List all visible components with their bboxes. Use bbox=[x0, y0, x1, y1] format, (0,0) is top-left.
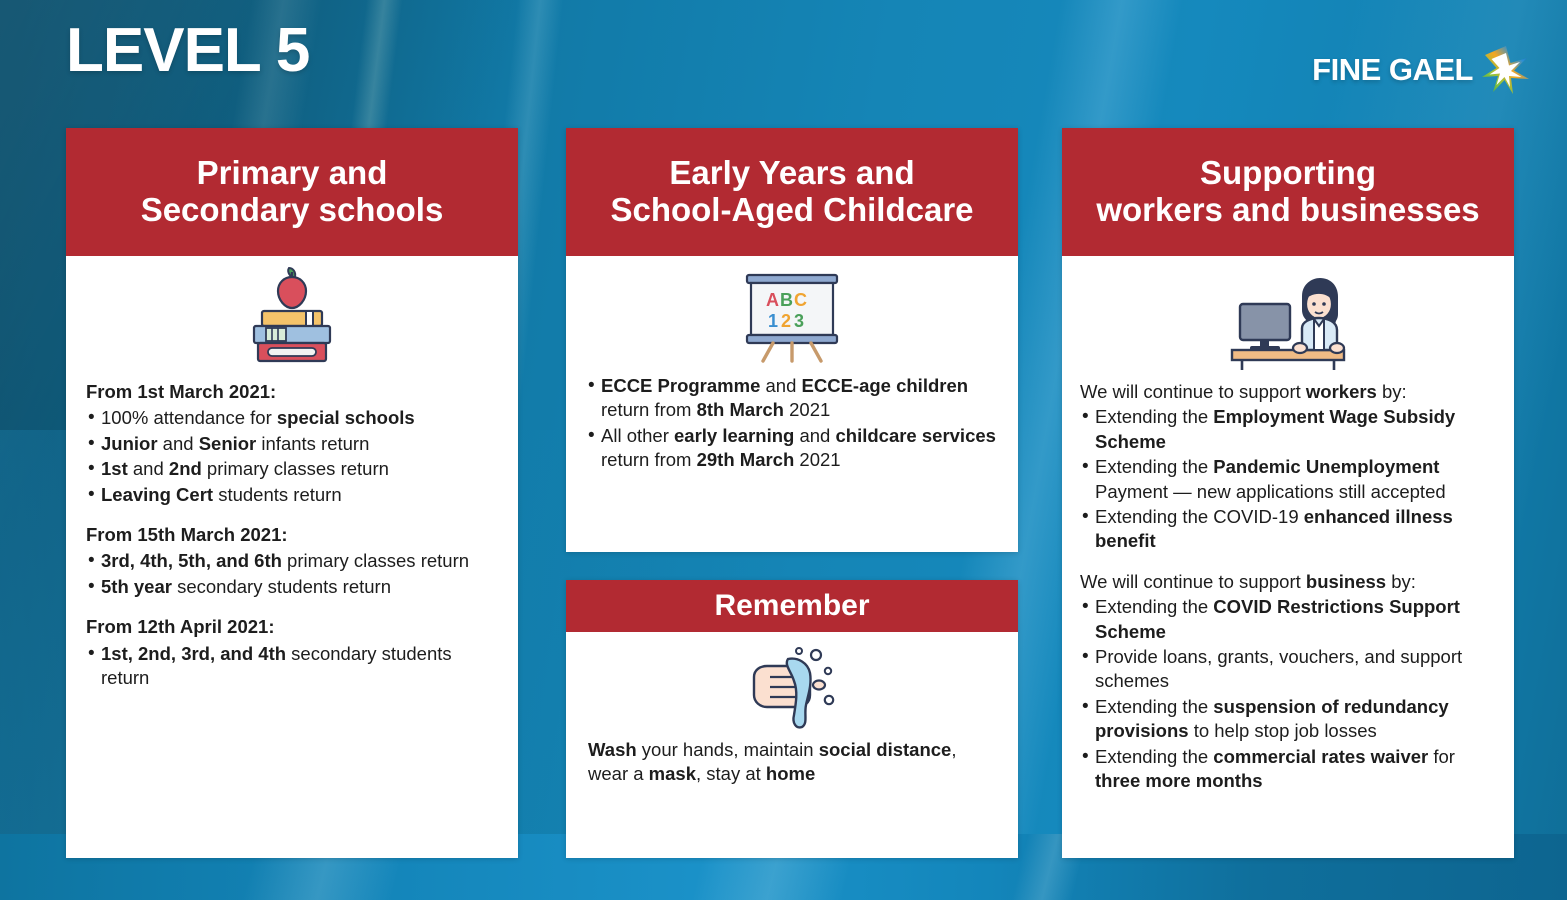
content-group: From 15th March 2021:3rd, 4th, 5th, and … bbox=[86, 523, 502, 599]
card-body-remember: Wash your hands, maintain social distanc… bbox=[566, 632, 1018, 786]
bullet-list: 3rd, 4th, 5th, and 6th primary classes r… bbox=[86, 549, 502, 599]
apple-on-books-icon bbox=[66, 256, 518, 374]
bullet-list: ECCE Programme and ECCE-age children ret… bbox=[586, 374, 1002, 473]
svg-text:1: 1 bbox=[768, 311, 778, 331]
list-item: ECCE Programme and ECCE-age children ret… bbox=[586, 374, 1002, 423]
washing-hands-icon bbox=[566, 632, 1018, 738]
early-title-line1: Early Years and bbox=[610, 155, 973, 192]
group-heading: From 1st March 2021: bbox=[86, 380, 502, 404]
list-item: Leaving Cert students return bbox=[86, 483, 502, 507]
page-title: LEVEL 5 bbox=[66, 20, 309, 82]
list-item: Extending the commercial rates waiver fo… bbox=[1080, 745, 1500, 794]
card-remember: Remember Wash your hands, maintain socia… bbox=[566, 580, 1018, 858]
list-item: 100% attendance for special schools bbox=[86, 406, 502, 430]
early-years-content: ECCE Programme and ECCE-age children ret… bbox=[566, 370, 1018, 473]
support-content: We will continue to support workers by:E… bbox=[1062, 378, 1514, 794]
brand-wordmark: FINE GAEL bbox=[1312, 52, 1473, 88]
list-item: Extending the suspension of redundancy p… bbox=[1080, 695, 1500, 744]
svg-text:2: 2 bbox=[781, 311, 791, 331]
list-item: 1st, 2nd, 3rd, and 4th secondary student… bbox=[86, 642, 502, 691]
group-heading: From 12th April 2021: bbox=[86, 615, 502, 639]
support-title-line2: workers and businesses bbox=[1096, 192, 1479, 229]
list-item: Provide loans, grants, vouchers, and sup… bbox=[1080, 645, 1500, 694]
infographic-canvas: LEVEL 5 FINE GAEL bbox=[0, 0, 1567, 900]
card-primary-secondary-schools: Primary and Secondary schools bbox=[66, 128, 518, 858]
list-item: 3rd, 4th, 5th, and 6th primary classes r… bbox=[86, 549, 502, 573]
svg-text:3: 3 bbox=[794, 311, 804, 331]
list-item: All other early learning and childcare s… bbox=[586, 424, 1002, 473]
schools-title-line1: Primary and bbox=[141, 155, 444, 192]
content-group: ECCE Programme and ECCE-age children ret… bbox=[586, 374, 1002, 473]
svg-text:C: C bbox=[794, 290, 807, 310]
card-body-support: We will continue to support workers by:E… bbox=[1062, 256, 1514, 794]
svg-text:A: A bbox=[766, 290, 779, 310]
schools-title-line2: Secondary schools bbox=[141, 192, 444, 229]
person-at-computer-desk-icon bbox=[1062, 256, 1514, 378]
card-body-schools: From 1st March 2021:100% attendance for … bbox=[66, 256, 518, 690]
svg-text:B: B bbox=[780, 290, 793, 310]
list-item: 5th year secondary students return bbox=[86, 575, 502, 599]
abc-123-whiteboard-icon: A B C 1 2 3 bbox=[566, 256, 1018, 370]
list-item: Extending the COVID Restrictions Support… bbox=[1080, 595, 1500, 644]
group-heading: From 15th March 2021: bbox=[86, 523, 502, 547]
support-title-line1: Supporting bbox=[1096, 155, 1479, 192]
card-body-early-years: A B C 1 2 3 ECCE Programme and ECCE-age … bbox=[566, 256, 1018, 473]
bullet-list: 100% attendance for special schoolsJunio… bbox=[86, 406, 502, 507]
list-item: Junior and Senior infants return bbox=[86, 432, 502, 456]
bullet-list: Extending the COVID Restrictions Support… bbox=[1080, 595, 1500, 793]
bullet-list: Extending the Employment Wage Subsidy Sc… bbox=[1080, 405, 1500, 553]
group-heading: We will continue to support workers by: bbox=[1080, 380, 1500, 404]
content-group: From 1st March 2021:100% attendance for … bbox=[86, 380, 502, 507]
list-item: Extending the COVID-19 enhanced illness … bbox=[1080, 505, 1500, 554]
content-group: We will continue to support business by:… bbox=[1080, 570, 1500, 794]
fine-gael-star-icon bbox=[1479, 44, 1531, 96]
schools-content: From 1st March 2021:100% attendance for … bbox=[66, 374, 518, 690]
content-group: From 12th April 2021:1st, 2nd, 3rd, and … bbox=[86, 615, 502, 690]
list-item: 1st and 2nd primary classes return bbox=[86, 457, 502, 481]
early-title-line2: School-Aged Childcare bbox=[610, 192, 973, 229]
list-item: Extending the Pandemic Unemployment Paym… bbox=[1080, 455, 1500, 504]
card-header-schools: Primary and Secondary schools bbox=[66, 128, 518, 256]
fine-gael-logo: FINE GAEL bbox=[1312, 44, 1531, 96]
group-heading: We will continue to support business by: bbox=[1080, 570, 1500, 594]
bullet-list: 1st, 2nd, 3rd, and 4th secondary student… bbox=[86, 642, 502, 691]
card-header-early-years: Early Years and School-Aged Childcare bbox=[566, 128, 1018, 256]
card-supporting-workers-businesses: Supporting workers and businesses bbox=[1062, 128, 1514, 858]
card-header-support: Supporting workers and businesses bbox=[1062, 128, 1514, 256]
card-header-remember: Remember bbox=[566, 580, 1018, 632]
card-early-years-childcare: Early Years and School-Aged Childcare A … bbox=[566, 128, 1018, 552]
list-item: Extending the Employment Wage Subsidy Sc… bbox=[1080, 405, 1500, 454]
content-group: We will continue to support workers by:E… bbox=[1080, 380, 1500, 554]
remember-content: Wash your hands, maintain social distanc… bbox=[566, 738, 1018, 786]
